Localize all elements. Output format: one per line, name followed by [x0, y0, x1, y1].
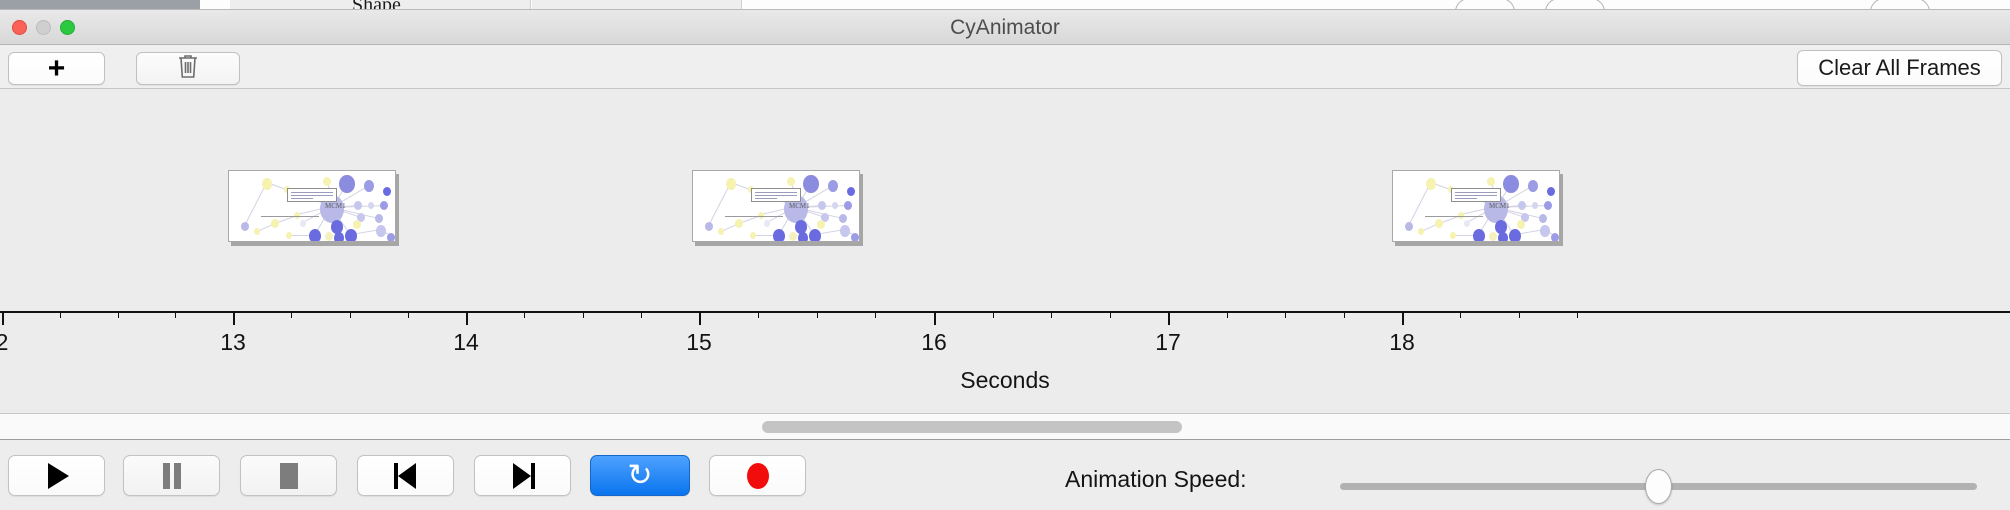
- loop-icon: ↻: [627, 463, 652, 489]
- axis-tick: [934, 311, 936, 325]
- graph-node: [1528, 180, 1538, 192]
- graph-node: [1540, 225, 1550, 237]
- background-window-curve: [1870, 0, 1930, 10]
- graph-node-label: MCM1: [789, 202, 810, 210]
- delete-frame-button[interactable]: [136, 52, 240, 85]
- graph-node: [818, 201, 826, 210]
- graph-node: [789, 232, 797, 241]
- axis-tick-label: 13: [220, 329, 246, 356]
- axis-minor-tick: [1051, 311, 1052, 318]
- trash-icon: [177, 53, 199, 85]
- timeline-panel[interactable]: Seconds 2131415161718MCM1MCM1MCM1: [0, 89, 2010, 414]
- cyanimator-window: Shape CyAnimator + Clear All Frames: [0, 0, 2010, 510]
- graph-node: [323, 177, 331, 186]
- graph-node: [798, 232, 808, 242]
- stop-icon: [280, 463, 298, 489]
- graph-node: [300, 220, 306, 227]
- graph-node: [1487, 177, 1495, 186]
- axis-minor-tick: [350, 311, 351, 318]
- axis-tick-label: 14: [453, 329, 479, 356]
- graph-node: [254, 228, 260, 235]
- keyframe-thumbnail[interactable]: MCM1: [692, 170, 860, 242]
- axis-minor-tick: [1577, 311, 1578, 318]
- graph-node: [339, 175, 355, 193]
- graph-node: [368, 202, 374, 209]
- axis-minor-tick: [1519, 311, 1520, 318]
- graph-node: [1464, 220, 1470, 227]
- axis-minor-tick: [641, 311, 642, 318]
- axis-tick: [2, 311, 4, 325]
- graph-node: [847, 187, 855, 196]
- graph-node: [1473, 229, 1485, 242]
- title-bar: CyAnimator: [0, 10, 2010, 45]
- background-window-dark-segment: [0, 0, 200, 10]
- axis-minor-tick: [758, 311, 759, 318]
- graph-node: [828, 180, 838, 192]
- timeline-axis: [0, 311, 2010, 313]
- keyframe-thumbnail[interactable]: MCM1: [1392, 170, 1560, 242]
- graph-node: [809, 229, 821, 242]
- axis-tick: [466, 311, 468, 325]
- callout-line: [755, 198, 777, 199]
- graph-node: [851, 233, 859, 242]
- timeline-canvas[interactable]: Seconds 2131415161718MCM1MCM1MCM1: [0, 89, 2010, 414]
- graph-node: [1489, 232, 1497, 241]
- axis-minor-tick: [817, 311, 818, 318]
- record-icon: [747, 463, 769, 489]
- skip-back-icon: [394, 463, 418, 489]
- graph-node: [1551, 233, 1559, 242]
- graph-node: [787, 177, 795, 186]
- animation-speed-slider-thumb[interactable]: [1645, 469, 1672, 504]
- play-icon: [48, 463, 69, 489]
- axis-minor-tick: [875, 311, 876, 318]
- graph-node: [840, 225, 850, 237]
- graph-node: [241, 222, 249, 231]
- graph-node: [345, 229, 357, 242]
- graph-node: [1426, 178, 1436, 190]
- graph-node: [353, 220, 361, 229]
- callout-line: [291, 198, 313, 199]
- axis-minor-tick: [1344, 311, 1345, 318]
- graph-node: [383, 187, 391, 196]
- axis-minor-tick: [524, 311, 525, 318]
- skip-forward-icon: [511, 463, 535, 489]
- callout-line: [755, 195, 797, 196]
- clear-all-frames-button[interactable]: Clear All Frames: [1797, 50, 2002, 86]
- axis-tick: [233, 311, 235, 325]
- animation-speed-label: Animation Speed:: [1065, 466, 1247, 493]
- graph-node: [726, 178, 736, 190]
- axis-tick-label: 15: [686, 329, 712, 356]
- pause-icon: [162, 463, 182, 489]
- record-button[interactable]: [709, 455, 806, 496]
- graph-node: [844, 201, 852, 210]
- playback-bar: ↻ Animation Speed:: [0, 441, 2010, 510]
- graph-node: [387, 233, 395, 242]
- graph-node: [773, 229, 785, 242]
- axis-tick-label: 2: [0, 329, 8, 356]
- axis-minor-tick: [175, 311, 176, 318]
- graph-node: [1547, 187, 1555, 196]
- axis-minor-tick: [60, 311, 61, 318]
- axis-minor-tick: [993, 311, 994, 318]
- graph-node: [750, 232, 756, 239]
- axis-tick: [1402, 311, 1404, 325]
- pause-button[interactable]: [123, 455, 220, 496]
- graph-node: [309, 229, 321, 242]
- graph-node: [817, 220, 825, 229]
- background-window-segment: [532, 0, 742, 10]
- axis-tick-label: 18: [1389, 329, 1415, 356]
- graph-node: [1498, 232, 1508, 242]
- axis-minor-tick: [118, 311, 119, 318]
- loop-button[interactable]: ↻: [590, 455, 690, 496]
- graph-node: [1435, 219, 1443, 228]
- graph-node: [334, 232, 344, 242]
- callout-line: [291, 195, 333, 196]
- callout-line: [1455, 198, 1477, 199]
- background-window-strip: Shape: [0, 0, 2010, 10]
- graph-node: [1418, 228, 1424, 235]
- graph-node: [832, 202, 838, 209]
- callout-line: [291, 192, 333, 193]
- graph-node: [718, 228, 724, 235]
- window-title: CyAnimator: [0, 10, 2010, 45]
- axis-tick-label: 17: [1155, 329, 1181, 356]
- graph-node: [1518, 201, 1526, 210]
- skip-start-button[interactable]: [357, 455, 454, 496]
- network-graph-preview: MCM1: [1393, 171, 1559, 241]
- axis-minor-tick: [583, 311, 584, 318]
- graph-node: [376, 225, 386, 237]
- axis-minor-tick: [1227, 311, 1228, 318]
- graph-annotation: [261, 216, 319, 217]
- background-window-curve: [1455, 0, 1515, 10]
- background-window-segment: [230, 0, 355, 10]
- horizontal-scrollbar[interactable]: [0, 414, 2010, 440]
- graph-node: [354, 201, 362, 210]
- graph-node: [262, 178, 272, 190]
- toolbar: + Clear All Frames: [0, 45, 2010, 89]
- axis-minor-tick: [1285, 311, 1286, 318]
- graph-node: [1405, 222, 1413, 231]
- graph-node: [764, 220, 770, 227]
- graph-node: [1450, 232, 1456, 239]
- axis-minor-tick: [1110, 311, 1111, 318]
- graph-node-label: MCM1: [1489, 202, 1510, 210]
- graph-node: [1509, 229, 1521, 242]
- skip-end-button[interactable]: [474, 455, 571, 496]
- network-graph-preview: MCM1: [693, 171, 859, 241]
- background-window-label: Shape: [352, 0, 401, 10]
- background-window-curve: [1545, 0, 1605, 10]
- graph-node: [803, 175, 819, 193]
- graph-node: [375, 214, 383, 223]
- play-button[interactable]: [8, 455, 105, 496]
- callout-line: [755, 192, 797, 193]
- callout-line: [1455, 195, 1497, 196]
- graph-node: [705, 222, 713, 231]
- plus-icon: +: [48, 54, 66, 84]
- graph-node: [325, 232, 333, 241]
- axis-tick: [1168, 311, 1170, 325]
- add-frame-button[interactable]: +: [8, 52, 105, 85]
- axis-tick-label: 16: [921, 329, 947, 356]
- graph-node: [839, 214, 847, 223]
- stop-button[interactable]: [240, 455, 337, 496]
- axis-minor-tick: [291, 311, 292, 318]
- graph-callout: [1451, 188, 1501, 202]
- axis-minor-tick: [408, 311, 409, 318]
- graph-node: [286, 232, 292, 239]
- graph-node: [380, 201, 388, 210]
- graph-annotation: [1425, 216, 1483, 217]
- callout-line: [1455, 192, 1497, 193]
- graph-node: [1517, 220, 1525, 229]
- graph-node-label: MCM1: [325, 202, 346, 210]
- network-graph-preview: MCM1: [229, 171, 395, 241]
- graph-node: [1532, 202, 1538, 209]
- clear-all-frames-label: Clear All Frames: [1818, 55, 1981, 81]
- scrollbar-thumb[interactable]: [762, 421, 1182, 433]
- graph-callout: [287, 188, 337, 202]
- axis-minor-tick: [1460, 311, 1461, 318]
- graph-annotation: [725, 216, 783, 217]
- graph-node: [1539, 214, 1547, 223]
- graph-node: [364, 180, 374, 192]
- graph-node: [271, 219, 279, 228]
- graph-callout: [751, 188, 801, 202]
- graph-node: [1503, 175, 1519, 193]
- axis-title: Seconds: [0, 367, 2010, 394]
- axis-tick: [699, 311, 701, 325]
- keyframe-thumbnail[interactable]: MCM1: [228, 170, 396, 242]
- graph-node: [735, 219, 743, 228]
- graph-node: [1544, 201, 1552, 210]
